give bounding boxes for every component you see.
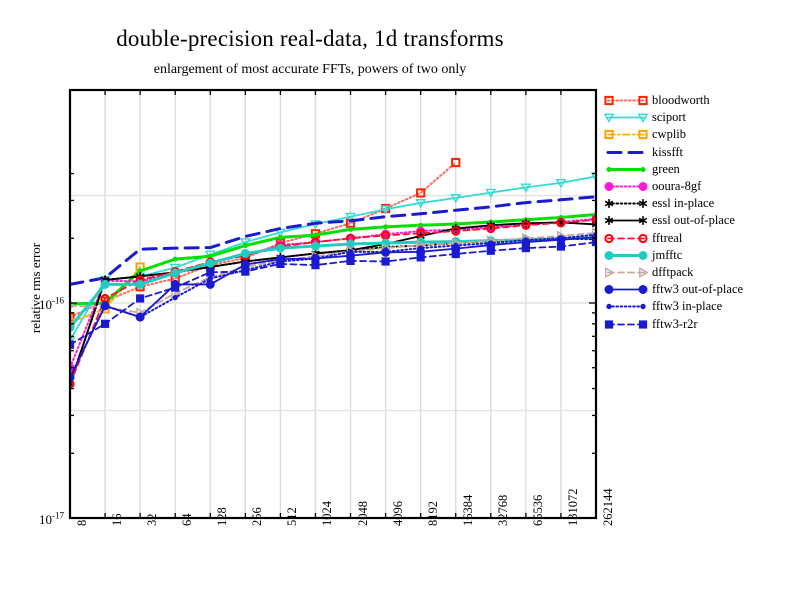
x-tick-label: 256 (250, 507, 265, 526)
data-point-marker (347, 257, 354, 264)
legend-item-fftw3-in-place[interactable]: fftw3 in-place (604, 298, 790, 315)
legend-swatch (604, 212, 648, 229)
x-tick-label: 16384 (461, 495, 476, 526)
data-point-marker (173, 257, 177, 261)
data-point-marker (103, 304, 107, 308)
grid-lines (70, 90, 596, 518)
legend-label: fftw3 in-place (648, 299, 722, 314)
legend-label: fftw3-r2r (648, 317, 698, 332)
data-point-marker (277, 260, 284, 267)
legend-swatch (604, 126, 648, 143)
data-point-marker (639, 320, 646, 327)
legend-swatch (604, 316, 648, 333)
x-tick-label: 128 (215, 507, 230, 526)
data-point-marker (607, 305, 611, 309)
legend-item-green[interactable]: green (604, 161, 790, 178)
x-tick-label: 262144 (601, 489, 616, 527)
data-point-marker (311, 242, 319, 250)
legend-item-essl-in-place[interactable]: essl in-place (604, 195, 790, 212)
x-tick-label: 65536 (531, 495, 546, 526)
data-point-marker (206, 259, 214, 267)
data-point-marker (641, 167, 645, 171)
legend-label: fftw3 out-of-place (648, 282, 743, 297)
legend-item-fftreal[interactable]: fftreal (604, 230, 790, 247)
legend-item-cwplib[interactable]: cwplib (604, 126, 790, 143)
data-point-marker (241, 261, 249, 269)
x-tick-label: 512 (285, 507, 300, 526)
legend-label: bloodworth (648, 93, 710, 108)
data-point-marker (607, 167, 611, 171)
data-point-marker (276, 244, 284, 252)
data-point-marker (417, 254, 424, 261)
x-tick-label: 2048 (356, 501, 371, 526)
data-point-marker (382, 258, 389, 265)
legend-swatch (604, 92, 648, 109)
data-point-marker (605, 183, 613, 191)
legend-item-essl-out-of-place[interactable]: essl out-of-place (604, 212, 790, 229)
data-point-marker (101, 280, 109, 288)
data-point-marker (557, 243, 564, 250)
data-point-marker (639, 251, 647, 259)
data-point-marker (138, 315, 142, 319)
data-point-marker (639, 183, 647, 191)
data-point-marker (172, 284, 179, 291)
data-point-marker (137, 295, 144, 302)
x-tick-label: 1024 (320, 501, 335, 526)
legend-swatch (604, 109, 648, 126)
legend-swatch (604, 247, 648, 264)
legend-item-kissfft[interactable]: kissfft (604, 144, 790, 161)
legend-label: ooura-8gf (648, 179, 701, 194)
legend-label: essl out-of-place (648, 213, 735, 228)
data-point-marker (241, 249, 249, 257)
legend-label: dfftpack (648, 265, 693, 280)
legend-swatch (604, 281, 648, 298)
x-tick-label: 32768 (496, 495, 511, 526)
series-sciport (66, 173, 600, 344)
series-line (70, 163, 456, 318)
legend-label: sciport (648, 110, 686, 125)
axis-frame (70, 90, 596, 518)
data-point-marker (171, 269, 179, 277)
series-fftw3-r2r (66, 238, 599, 348)
series-line (70, 237, 596, 327)
data-point-marker (348, 250, 352, 254)
legend-item-jmfftc[interactable]: jmfftc (604, 247, 790, 264)
data-point-marker (641, 305, 645, 309)
x-tick-label: 131072 (566, 489, 581, 527)
data-point-marker (605, 251, 613, 259)
data-point-marker (242, 268, 249, 275)
data-point-marker (559, 236, 563, 240)
legend-swatch (604, 195, 648, 212)
data-point-marker (136, 280, 144, 288)
legend-swatch (604, 298, 648, 315)
series-line (70, 235, 596, 378)
legend-label: kissfft (648, 145, 683, 160)
legend-label: cwplib (648, 127, 686, 142)
legend-label: fftreal (648, 231, 682, 246)
series-line (70, 176, 596, 340)
legend-swatch (604, 144, 648, 161)
data-point-marker (452, 250, 459, 257)
legend-item-fftw3-out-of-place[interactable]: fftw3 out-of-place (604, 281, 790, 298)
data-point-marker (418, 246, 422, 250)
data-point-marker (522, 245, 529, 252)
x-tick-label: 32 (145, 514, 160, 527)
legend-label: green (648, 162, 680, 177)
legend-item-dfftpack[interactable]: dfftpack (604, 264, 790, 281)
data-point-marker (384, 225, 388, 229)
data-point-marker (349, 227, 353, 231)
data-point-marker (312, 262, 319, 269)
legend-label: essl in-place (648, 196, 714, 211)
data-point-marker (605, 320, 612, 327)
x-tick-label: 8192 (426, 501, 441, 526)
series-fftw3-out-of-place (66, 233, 600, 381)
chart-legend: bloodworthsciportcwplibkissfftgreenooura… (604, 92, 790, 333)
x-tick-label: 8 (75, 520, 90, 526)
legend-swatch (604, 161, 648, 178)
data-point-marker (206, 280, 214, 288)
legend-swatch (604, 230, 648, 247)
data-point-marker (313, 256, 317, 260)
data-point-marker (639, 286, 647, 294)
x-tick-label: 4096 (391, 501, 406, 526)
legend-item-sciport[interactable]: sciport (604, 109, 790, 126)
legend-item-fftw3-r2r[interactable]: fftw3-r2r (604, 315, 790, 332)
data-point-marker (278, 235, 282, 239)
x-tick-label: 64 (180, 514, 195, 527)
legend-swatch (604, 178, 648, 195)
legend-item-bloodworth[interactable]: bloodworth (604, 92, 790, 109)
x-tick-label: 16 (110, 514, 125, 527)
data-point-marker (454, 243, 458, 247)
data-point-marker (313, 233, 317, 237)
legend-swatch (604, 264, 648, 281)
data-point-marker (383, 250, 387, 254)
data-point-marker (524, 238, 528, 242)
data-point-marker (489, 241, 493, 245)
data-point-marker (208, 276, 212, 280)
data-point-marker (605, 286, 613, 294)
data-point-marker (487, 247, 494, 254)
chart-container: double-precision real-data, 1d transform… (0, 0, 792, 612)
data-point-marker (243, 244, 247, 248)
legend-label: jmfftc (648, 248, 682, 263)
data-point-marker (173, 295, 177, 299)
data-point-marker (101, 320, 108, 327)
legend-item-ooura-8gf[interactable]: ooura-8gf (604, 178, 790, 195)
data-point-marker (207, 269, 214, 276)
data-point-marker (639, 199, 647, 208)
